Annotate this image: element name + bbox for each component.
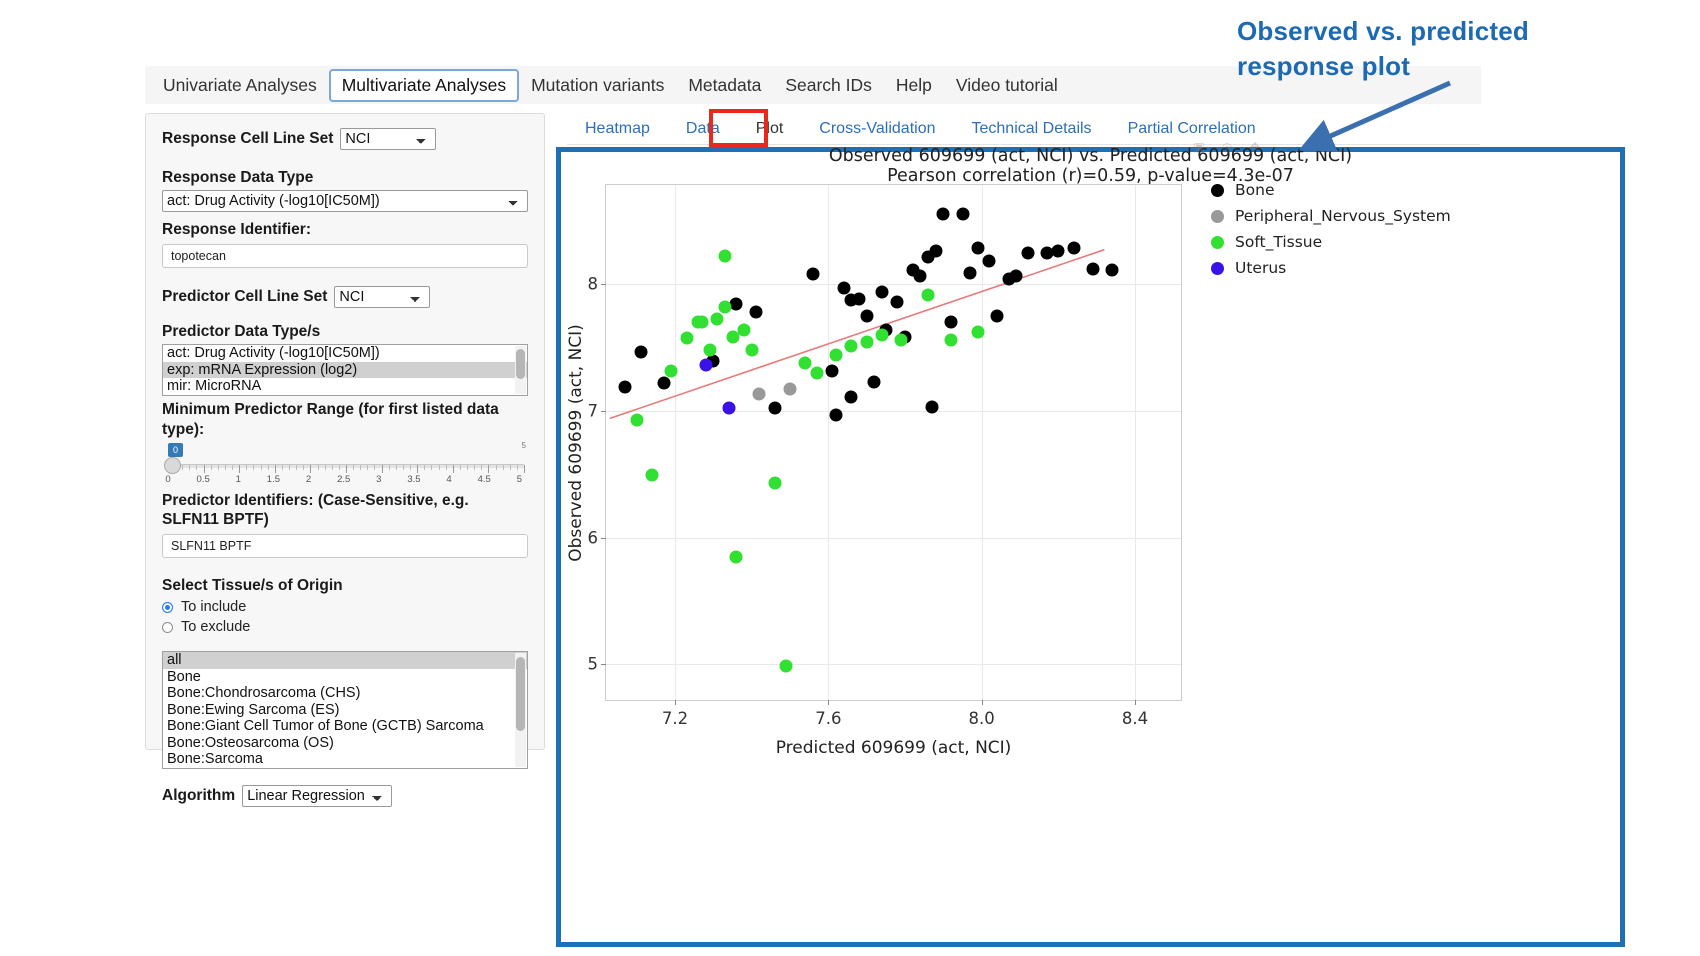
slider-minor-tick [439, 465, 440, 470]
tissue-exclude-radio-row[interactable]: To exclude [162, 619, 528, 635]
scatter-point-bone[interactable] [634, 346, 647, 359]
tissue-include-label: To include [181, 599, 246, 615]
response-data-type-group: Response Data Type act: Drug Activity (-… [162, 168, 528, 212]
scatter-point-bone[interactable] [1106, 263, 1119, 276]
slider-tick [524, 465, 525, 473]
y-tick-label: 5 [588, 655, 599, 674]
tissue-option[interactable]: Bone [163, 669, 527, 686]
y-tick-label: 6 [588, 528, 599, 547]
predictor-cell-line-set-select[interactable]: NCI [334, 286, 430, 308]
legend-label: Uterus [1235, 259, 1286, 277]
slider-minor-tick [182, 465, 183, 470]
slider-tick-label: 4.5 [478, 474, 491, 485]
radio-include-icon[interactable] [162, 602, 173, 613]
scatter-point-bone[interactable] [845, 390, 858, 403]
slider-minor-tick [374, 465, 375, 470]
scatter-point-bone[interactable] [914, 270, 927, 283]
slider-minor-tick [332, 465, 333, 470]
scatter-point-bone[interactable] [826, 365, 839, 378]
slider-tick [382, 465, 383, 473]
autoscale-icon[interactable]: ↔ [1276, 140, 1290, 154]
slider-minor-tick [510, 465, 511, 470]
legend-marker-icon [1211, 236, 1224, 249]
slider-minor-tick [396, 465, 397, 470]
slider-minor-tick [189, 465, 190, 470]
predictor-data-types-label: Predictor Data Type/s [162, 322, 528, 341]
response-identifier-group: Response Identifier: [162, 220, 528, 267]
scatter-point-soft_tissue[interactable] [711, 313, 724, 326]
tissue-option[interactable]: Bone:Osteosarcoma (OS) [163, 735, 527, 752]
slider-tick-label: 3.5 [407, 474, 420, 485]
scatter-point-bone[interactable] [730, 298, 743, 311]
slider-minor-tick [496, 465, 497, 470]
scatter-point-bone[interactable] [619, 380, 632, 393]
scatter-point-uterus[interactable] [722, 402, 735, 415]
scatter-point-bone[interactable] [837, 281, 850, 294]
slider-ticks [168, 465, 524, 473]
tissue-listbox-scrollbar-thumb[interactable] [516, 657, 525, 731]
response-data-type-label: Response Data Type [162, 168, 528, 187]
slider-tick-label: 2 [306, 474, 311, 485]
slider-tick-label: 5 [517, 474, 522, 485]
scatter-point-bone[interactable] [868, 375, 881, 388]
scatter-point-bone[interactable] [1010, 270, 1023, 283]
scatter-point-bone[interactable] [971, 242, 984, 255]
scatter-point-bone[interactable] [956, 208, 969, 221]
scatter-point-bone[interactable] [1067, 242, 1080, 255]
scatter-point-soft_tissue[interactable] [665, 365, 678, 378]
slider-minor-tick [403, 465, 404, 470]
slider-max-label: 5 [522, 441, 526, 450]
legend-label: Peripheral_Nervous_System [1235, 207, 1451, 225]
minimum-predictor-range-group: Minimum Predictor Range (for first liste… [162, 400, 528, 489]
x-tick-label: 7.6 [815, 709, 841, 728]
scatter-point-bone[interactable] [768, 402, 781, 415]
scatter-point-soft_tissue[interactable] [726, 331, 739, 344]
scatter-point-soft_tissue[interactable] [630, 413, 643, 426]
slider-minor-tick [446, 465, 447, 470]
slider-minor-tick [225, 465, 226, 470]
y-tick-label: 7 [588, 401, 599, 420]
slider-tick-label: 4 [446, 474, 451, 485]
zoom-icon[interactable]: ◎ [1220, 140, 1234, 154]
slider-minor-tick [296, 465, 297, 470]
listbox-scrollbar-thumb[interactable] [516, 349, 525, 379]
algorithm-row: Algorithm Linear Regression [162, 785, 528, 807]
legend-label: Soft_Tissue [1235, 233, 1322, 251]
scatter-figure: Observed 609699 (act, NCI) vs. Predicted… [561, 152, 1620, 852]
scatter-point-bone[interactable] [830, 408, 843, 421]
nav-tab-multivariate-analyses[interactable]: Multivariate Analyses [329, 69, 519, 102]
slider-value-badge: 0 [168, 443, 183, 457]
scatter-point-soft_tissue[interactable] [780, 659, 793, 672]
slider-tick [453, 465, 454, 473]
scatter-point-bone[interactable] [991, 309, 1004, 322]
scatter-point-bone[interactable] [925, 400, 938, 413]
scatter-point-peripheral_nervous_system[interactable] [784, 383, 797, 396]
slider-minor-tick [218, 465, 219, 470]
tissue-listbox-scrollbar-track[interactable] [515, 653, 526, 767]
slider-minor-tick [474, 465, 475, 470]
scatter-point-soft_tissue[interactable] [703, 343, 716, 356]
radio-exclude-icon[interactable] [162, 622, 173, 633]
scatter-point-soft_tissue[interactable] [738, 323, 751, 336]
legend-marker-icon [1211, 262, 1224, 275]
scatter-point-soft_tissue[interactable] [945, 333, 958, 346]
slider-minor-tick [318, 465, 319, 470]
legend-item[interactable]: Uterus [1211, 258, 1451, 278]
slider-minor-tick [261, 465, 262, 470]
x-tick-mark [675, 700, 676, 705]
plot-legend: BonePeripheral_Nervous_SystemSoft_Tissue… [1211, 180, 1451, 278]
tissue-selection-label: Select Tissue/s of Origin [162, 576, 528, 595]
scatter-point-bone[interactable] [1086, 262, 1099, 275]
slider-tick-label: 1 [236, 474, 241, 485]
scatter-point-soft_tissue[interactable] [680, 332, 693, 345]
slider-minor-tick [196, 465, 197, 470]
camera-icon[interactable]: ▣ [1192, 140, 1206, 154]
legend-item[interactable]: Peripheral_Nervous_System [1211, 206, 1451, 226]
x-tick-label: 7.2 [662, 709, 688, 728]
response-cell-line-set-row: Response Cell Line Set NCI [162, 128, 528, 150]
slider-minor-tick [353, 465, 354, 470]
result-tab-partial-correlation[interactable]: Partial Correlation [1110, 117, 1274, 141]
legend-label: Bone [1235, 181, 1274, 199]
slider-tick [488, 465, 489, 473]
scatter-point-bone[interactable] [853, 293, 866, 306]
slider-tick [310, 465, 311, 473]
result-tab-technical-details[interactable]: Technical Details [954, 117, 1110, 141]
scatter-point-soft_tissue[interactable] [646, 469, 659, 482]
scatter-point-soft_tissue[interactable] [895, 333, 908, 346]
predictor-data-type-option[interactable]: mth: DNA 850K Methylation [163, 395, 527, 397]
nav-tab-video-tutorial[interactable]: Video tutorial [944, 70, 1070, 101]
slider-minor-tick [211, 465, 212, 470]
slider-minor-tick [481, 465, 482, 470]
slider-tick [239, 465, 240, 473]
scatter-point-bone[interactable] [807, 267, 820, 280]
x-tick-label: 8.0 [969, 709, 995, 728]
legend-item[interactable]: Bone [1211, 180, 1451, 200]
legend-item[interactable]: Soft_Tissue [1211, 232, 1451, 252]
slider-minor-tick [410, 465, 411, 470]
legend-marker-icon [1211, 210, 1224, 223]
slider-minor-tick [289, 465, 290, 470]
slider-minor-tick [303, 465, 304, 470]
slider-tick-label: 1.5 [267, 474, 280, 485]
x-tick-mark [982, 700, 983, 705]
slider-tick [275, 465, 276, 473]
tissue-selection-group: Select Tissue/s of Origin To include To … [162, 576, 528, 635]
scatter-point-soft_tissue[interactable] [695, 315, 708, 328]
figure-subtitle: Pearson correlation (r)=0.59, p-value=4.… [561, 166, 1620, 186]
nav-tab-search-ids[interactable]: Search IDs [773, 70, 884, 101]
slider-minor-tick [503, 465, 504, 470]
scatter-point-soft_tissue[interactable] [971, 326, 984, 339]
slider-minor-tick [253, 465, 254, 470]
nav-tab-help[interactable]: Help [884, 70, 944, 101]
tissue-option[interactable]: Peripheral_Nervous_System [163, 768, 527, 770]
algorithm-label: Algorithm [162, 786, 235, 805]
predictor-identifiers-input[interactable] [162, 534, 528, 558]
tissue-include-radio-row[interactable]: To include [162, 599, 528, 615]
scatter-point-soft_tissue[interactable] [799, 356, 812, 369]
scatter-point-soft_tissue[interactable] [830, 348, 843, 361]
response-cell-line-set-label: Response Cell Line Set [162, 129, 333, 148]
result-tab-cross-validation[interactable]: Cross-Validation [801, 117, 953, 141]
predictor-data-types-listbox[interactable]: act: Drug Activity (-log10[IC50M])exp: m… [162, 344, 528, 396]
slider-minor-tick [232, 465, 233, 470]
scatter-point-soft_tissue[interactable] [730, 550, 743, 563]
x-axis-label: Predicted 609699 (act, NCI) [605, 738, 1182, 758]
predictor-data-type-option[interactable]: mir: MicroRNA [163, 378, 527, 395]
y-tick-label: 8 [588, 274, 599, 293]
scatter-point-bone[interactable] [945, 315, 958, 328]
response-cell-line-set-select[interactable]: NCI [340, 128, 436, 150]
scatter-point-soft_tissue[interactable] [768, 477, 781, 490]
slider-minor-tick [360, 465, 361, 470]
callout-line-1: Observed vs. predicted [1237, 14, 1567, 49]
tissue-listbox-group: allBoneBone:Chondrosarcoma (CHS)Bone:Ewi… [162, 651, 528, 769]
predictor-cell-line-set-row: Predictor Cell Line Set NCI [162, 286, 528, 308]
slider-tick-label: 0 [165, 474, 170, 485]
plot-tab-highlight-box [709, 109, 768, 147]
slider-tick-label: 3 [376, 474, 381, 485]
slider-tick [346, 465, 347, 473]
scatter-point-bone[interactable] [937, 208, 950, 221]
predictor-identifiers-group: Predictor Identifiers: (Case-Sensitive, … [162, 491, 528, 558]
algorithm-select[interactable]: Linear Regression [242, 785, 392, 807]
response-data-type-select[interactable]: act: Drug Activity (-log10[IC50M]) [162, 190, 528, 212]
tissue-option[interactable]: Bone:Ewing Sarcoma (ES) [163, 702, 527, 719]
tissue-option[interactable]: Bone:Chondrosarcoma (CHS) [163, 685, 527, 702]
scatter-point-bone[interactable] [1021, 247, 1034, 260]
slider-minor-tick [460, 465, 461, 470]
slider-minor-tick [431, 465, 432, 470]
callout-annotation: Observed vs. predicted response plot [1237, 14, 1567, 84]
slider-minor-tick [424, 465, 425, 470]
result-tab-heatmap[interactable]: Heatmap [567, 117, 668, 141]
analysis-settings-panel: Response Cell Line Set NCI Response Data… [145, 113, 545, 750]
scatter-point-uterus[interactable] [699, 359, 712, 372]
scatter-point-bone[interactable] [860, 309, 873, 322]
scatter-point-bone[interactable] [657, 376, 670, 389]
scatter-point-peripheral_nervous_system[interactable] [753, 388, 766, 401]
nav-tab-metadata[interactable]: Metadata [676, 70, 773, 101]
x-tick-label: 8.4 [1122, 709, 1148, 728]
scatter-point-bone[interactable] [876, 285, 889, 298]
predictor-cell-line-set-label: Predictor Cell Line Set [162, 287, 327, 306]
scatter-point-bone[interactable] [983, 255, 996, 268]
plot-toolbar[interactable]: ▣ ◎ ✥ ↔ [1192, 140, 1290, 154]
minimum-predictor-range-label: Minimum Predictor Range (for first liste… [162, 400, 528, 439]
scatter-point-soft_tissue[interactable] [745, 343, 758, 356]
listbox-scrollbar-track[interactable] [515, 346, 526, 394]
predictor-identifiers-label: Predictor Identifiers: (Case-Sensitive, … [162, 491, 528, 530]
slider-handle[interactable] [164, 457, 181, 474]
tissue-option[interactable]: Bone:Sarcoma [163, 751, 527, 768]
nav-tab-mutation-variants[interactable]: Mutation variants [519, 70, 676, 101]
scatter-point-bone[interactable] [891, 295, 904, 308]
predictor-data-type-option[interactable]: act: Drug Activity (-log10[IC50M]) [163, 345, 527, 362]
slider-tick-labels: 00.511.522.533.544.55 [162, 474, 528, 486]
slider-tick [204, 465, 205, 473]
scatter-point-soft_tissue[interactable] [845, 340, 858, 353]
slider-tick [417, 465, 418, 473]
y-axis-label: Observed 609699 (act, NCI) [566, 324, 586, 562]
predictor-data-types-group: Predictor Data Type/s act: Drug Activity… [162, 322, 528, 396]
slider-tick-label: 0.5 [197, 474, 210, 485]
slider-minor-tick [325, 465, 326, 470]
scatter-point-bone[interactable] [964, 266, 977, 279]
tissue-option[interactable]: Bone:Giant Cell Tumor of Bone (GCTB) Sar… [163, 718, 527, 735]
slider-minor-tick [517, 465, 518, 470]
scatter-point-soft_tissue[interactable] [718, 250, 731, 263]
slider-minor-tick [367, 465, 368, 470]
response-identifier-label: Response Identifier: [162, 220, 528, 239]
scatter-point-soft_tissue[interactable] [718, 300, 731, 313]
x-tick-mark [828, 700, 829, 705]
response-identifier-input[interactable] [162, 244, 528, 268]
legend-marker-icon [1211, 184, 1224, 197]
scatter-point-soft_tissue[interactable] [810, 366, 823, 379]
callout-arrow-icon [1290, 78, 1470, 158]
scatter-point-soft_tissue[interactable] [922, 289, 935, 302]
tissue-listbox[interactable]: allBoneBone:Chondrosarcoma (CHS)Bone:Ewi… [162, 651, 528, 769]
slider-minor-tick [339, 465, 340, 470]
predictor-data-type-option[interactable]: exp: mRNA Expression (log2) [163, 362, 527, 379]
pan-icon[interactable]: ✥ [1248, 140, 1262, 154]
scatter-point-bone[interactable] [929, 244, 942, 257]
scatter-point-soft_tissue[interactable] [876, 328, 889, 341]
slider-minor-tick [389, 465, 390, 470]
x-tick-mark [1135, 700, 1136, 705]
scatter-point-bone[interactable] [749, 305, 762, 318]
scatter-point-soft_tissue[interactable] [860, 336, 873, 349]
tissue-option[interactable]: all [163, 652, 527, 669]
tissue-exclude-label: To exclude [181, 619, 250, 635]
slider-tick-label: 2.5 [337, 474, 350, 485]
slider-minor-tick [268, 465, 269, 470]
slider-minor-tick [467, 465, 468, 470]
minimum-predictor-range-slider[interactable]: 0 5 00.511.522.533.544.55 [162, 443, 528, 489]
slider-minor-tick [282, 465, 283, 470]
scatter-point-bone[interactable] [1052, 244, 1065, 257]
nav-tab-univariate-analyses[interactable]: Univariate Analyses [151, 70, 329, 101]
plot-area[interactable]: Observed 609699 (act, NCI) 7.27.68.08.45… [605, 184, 1182, 701]
slider-minor-tick [246, 465, 247, 470]
